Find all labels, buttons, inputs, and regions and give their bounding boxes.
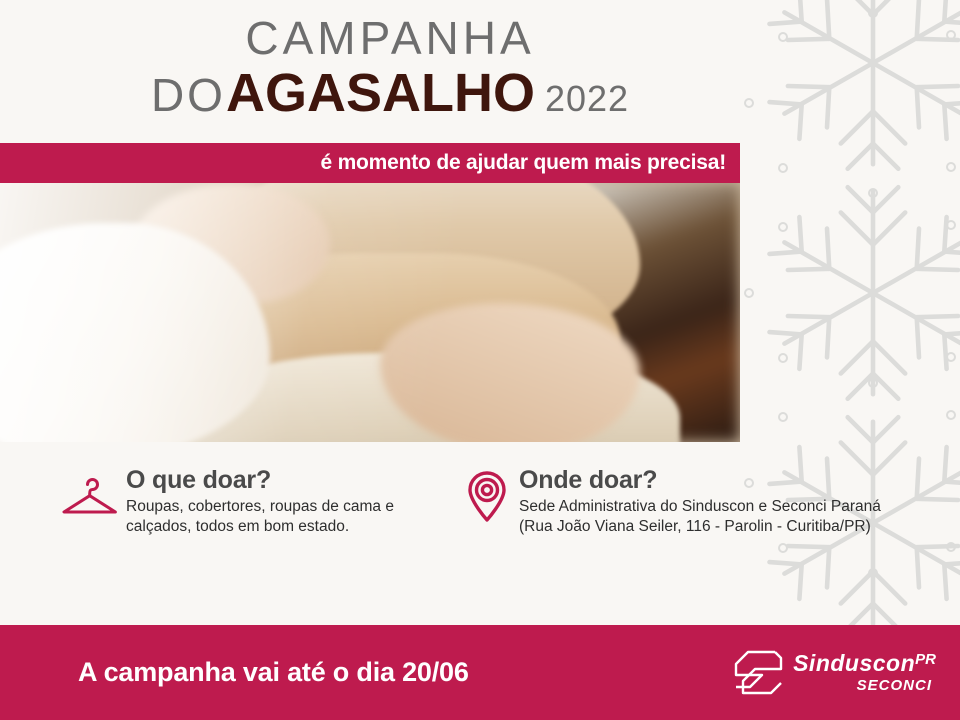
logo-wordmark: SindusconPR SECONCI bbox=[793, 652, 936, 693]
campaign-deadline: A campanha vai até o dia 20/06 bbox=[78, 657, 469, 688]
snow-dot-icon bbox=[946, 542, 956, 552]
where-to-donate-venue: Sede Administrativa do Sinduscon e Secon… bbox=[519, 497, 881, 517]
snow-dot-icon bbox=[946, 410, 956, 420]
snow-dot-icon bbox=[744, 288, 754, 298]
snow-dot-icon bbox=[778, 353, 788, 363]
title-line-campanha: CAMPANHA bbox=[0, 14, 780, 63]
snow-dot-icon bbox=[868, 378, 878, 388]
snow-dot-icon bbox=[946, 30, 956, 40]
title-word-do: DO bbox=[151, 69, 226, 121]
logo-main-text: Sinduscon bbox=[793, 650, 915, 676]
snowflake-icon bbox=[758, 178, 960, 408]
what-to-donate-text: O que doar? Roupas, cobertores, roupas d… bbox=[126, 466, 440, 538]
snow-dot-icon bbox=[946, 162, 956, 172]
campaign-photo bbox=[0, 183, 740, 442]
subbanner-text: é momento de ajudar quem mais precisa! bbox=[320, 151, 740, 175]
snow-dot-icon bbox=[778, 412, 788, 422]
poster-canvas: CAMPANHA DOAGASALHO2022 é momento de aju… bbox=[0, 0, 960, 720]
where-to-donate-heading: Onde doar? bbox=[519, 466, 881, 495]
logo-sub-text: SECONCI bbox=[793, 678, 932, 693]
snow-dot-icon bbox=[868, 188, 878, 198]
info-where-to-donate: Onde doar? Sede Administrativa do Sindus… bbox=[467, 466, 887, 538]
footer-bar: A campanha vai até o dia 20/06 Sinduscon… bbox=[0, 625, 960, 720]
hanger-icon-wrap bbox=[60, 466, 126, 523]
title-year: 2022 bbox=[545, 78, 629, 119]
snow-dot-icon bbox=[868, 568, 878, 578]
info-what-to-donate: O que doar? Roupas, cobertores, roupas d… bbox=[60, 466, 440, 538]
title-word-agasalho: AGASALHO bbox=[226, 63, 535, 123]
campaign-title: CAMPANHA DOAGASALHO2022 bbox=[0, 14, 780, 122]
what-to-donate-heading: O que doar? bbox=[126, 466, 440, 495]
snow-dot-icon bbox=[946, 220, 956, 230]
logo-main-row: SindusconPR bbox=[793, 652, 936, 675]
snow-dot-icon bbox=[946, 352, 956, 362]
snow-dot-icon bbox=[868, 8, 878, 18]
where-to-donate-text: Onde doar? Sede Administrativa do Sindus… bbox=[519, 466, 881, 538]
title-line-agasalho: DOAGASALHO2022 bbox=[0, 65, 780, 122]
map-pin-icon bbox=[467, 470, 507, 524]
logo-pr-text: PR bbox=[915, 651, 936, 668]
where-to-donate-address: (Rua João Viana Seiler, 116 - Parolin - … bbox=[519, 517, 881, 537]
snowflake-icon bbox=[758, 0, 960, 178]
what-to-donate-body: Roupas, cobertores, roupas de cama e cal… bbox=[126, 497, 440, 538]
snow-dot-icon bbox=[778, 543, 788, 553]
snow-dot-icon bbox=[778, 222, 788, 232]
sinduscon-s-mark-icon bbox=[731, 647, 787, 699]
subbanner: é momento de ajudar quem mais precisa! bbox=[0, 143, 740, 183]
hanger-icon bbox=[60, 474, 122, 518]
snow-dot-icon bbox=[778, 163, 788, 173]
sinduscon-seconci-logo: SindusconPR SECONCI bbox=[731, 647, 936, 699]
map-pin-icon-wrap bbox=[467, 466, 519, 529]
photo-light-haze bbox=[0, 183, 740, 442]
info-section: O que doar? Roupas, cobertores, roupas d… bbox=[0, 466, 960, 538]
